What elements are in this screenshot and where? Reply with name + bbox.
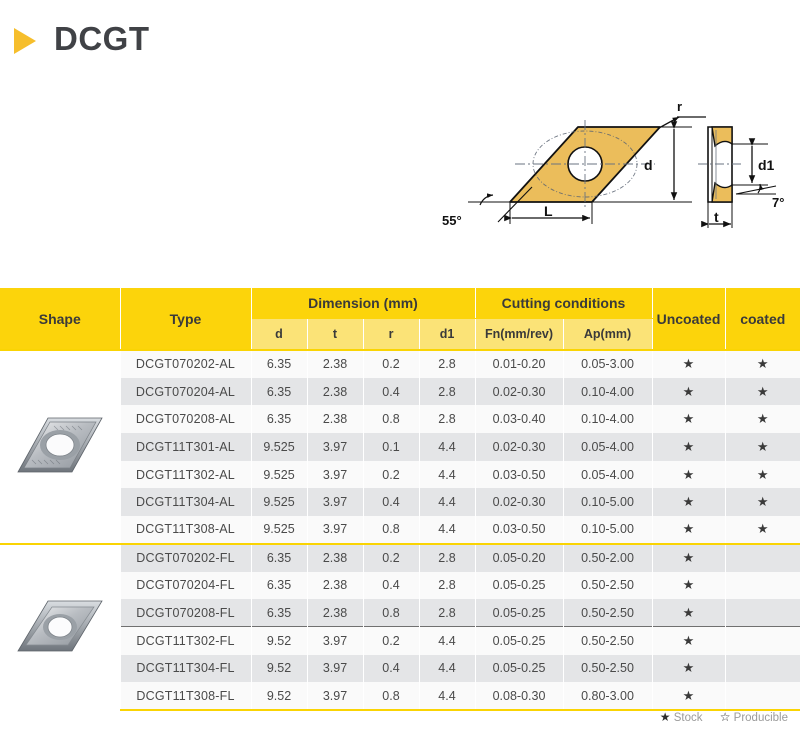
- cell-t: 2.38: [307, 544, 363, 572]
- cell-fn: 0.05-0.25: [475, 655, 563, 683]
- cell-t: 2.38: [307, 599, 363, 627]
- table-body: DCGT070202-AL6.352.380.22.80.01-0.200.05…: [0, 350, 800, 710]
- cell-uncoated: ★: [652, 544, 725, 572]
- cell-r: 0.8: [363, 405, 419, 433]
- cell-ap: 0.05-4.00: [563, 461, 652, 489]
- cell-t: 3.97: [307, 655, 363, 683]
- cell-d: 9.52: [251, 655, 307, 683]
- col-header-shape: Shape: [0, 288, 120, 350]
- cell-d1: 4.4: [419, 488, 475, 516]
- diagram-label-t: t: [714, 209, 719, 225]
- cell-ap: 0.10-5.00: [563, 516, 652, 544]
- diagram-label-relief-angle: 7°: [772, 195, 784, 210]
- col-header-uncoated: Uncoated: [652, 288, 725, 350]
- cell-r: 0.4: [363, 572, 419, 600]
- cell-d1: 4.4: [419, 461, 475, 489]
- diagram-label-L: L: [544, 203, 553, 219]
- cell-r: 0.4: [363, 488, 419, 516]
- table-row: DCGT11T301-AL9.5253.970.14.40.02-0.300.0…: [0, 433, 800, 461]
- diagram-front-view: r d L 55°: [442, 99, 706, 228]
- page-title: DCGT: [54, 20, 150, 58]
- cell-d: 9.52: [251, 682, 307, 710]
- col-header-coated: coated: [725, 288, 800, 350]
- cell-type: DCGT11T304-AL: [120, 488, 251, 516]
- cell-coated: ★: [725, 433, 800, 461]
- table-row: DCGT070202-AL6.352.380.22.80.01-0.200.05…: [0, 350, 800, 378]
- table-row: DCGT11T308-FL9.523.970.84.40.08-0.300.80…: [0, 682, 800, 710]
- cell-type: DCGT070202-AL: [120, 350, 251, 378]
- cell-fn: 0.03-0.50: [475, 516, 563, 544]
- cell-coated: ★: [725, 350, 800, 378]
- legend-stock-label: Stock: [674, 712, 703, 724]
- play-triangle-icon: [14, 28, 36, 54]
- cell-coated: ★: [725, 516, 800, 544]
- insert-chipbreaker-al: [0, 410, 120, 483]
- cell-d1: 2.8: [419, 544, 475, 572]
- legend-producible-label: Producible: [734, 712, 788, 724]
- cell-r: 0.4: [363, 655, 419, 683]
- cell-uncoated: ★: [652, 488, 725, 516]
- cell-d1: 2.8: [419, 572, 475, 600]
- cell-t: 2.38: [307, 405, 363, 433]
- diagram-label-d1: d1: [758, 157, 775, 173]
- cell-type: DCGT070202-FL: [120, 544, 251, 572]
- cell-coated: [725, 682, 800, 710]
- cell-type: DCGT11T302-FL: [120, 627, 251, 655]
- cell-uncoated: ★: [652, 627, 725, 655]
- cell-coated: [725, 599, 800, 627]
- star-outline-icon: ☆: [720, 710, 731, 724]
- cell-d: 9.525: [251, 433, 307, 461]
- insert-dimension-diagram: r d L 55°: [440, 82, 800, 232]
- cell-r: 0.2: [363, 350, 419, 378]
- cell-type: DCGT070208-FL: [120, 599, 251, 627]
- diagram-label-r: r: [677, 99, 682, 114]
- table-row: DCGT070208-AL6.352.380.82.80.03-0.400.10…: [0, 405, 800, 433]
- table-row: DCGT11T302-FL9.523.970.24.40.05-0.250.50…: [0, 627, 800, 655]
- table-row: DCGT11T308-AL9.5253.970.84.40.03-0.500.1…: [0, 516, 800, 544]
- cell-fn: 0.03-0.50: [475, 461, 563, 489]
- col-header-d1: d1: [419, 319, 475, 351]
- cell-d: 6.35: [251, 378, 307, 406]
- cell-ap: 0.10-4.00: [563, 378, 652, 406]
- cell-fn: 0.02-0.30: [475, 433, 563, 461]
- cell-t: 2.38: [307, 350, 363, 378]
- col-header-r: r: [363, 319, 419, 351]
- cell-uncoated: ★: [652, 433, 725, 461]
- shape-cell-insert-plain-fl: [0, 544, 120, 710]
- cell-d: 6.35: [251, 350, 307, 378]
- table-row: DCGT070204-FL6.352.380.42.80.05-0.250.50…: [0, 572, 800, 600]
- cell-ap: 0.50-2.50: [563, 655, 652, 683]
- cell-uncoated: ★: [652, 461, 725, 489]
- cell-d1: 4.4: [419, 682, 475, 710]
- cell-d: 6.35: [251, 544, 307, 572]
- cell-type: DCGT070204-FL: [120, 572, 251, 600]
- cell-d1: 2.8: [419, 599, 475, 627]
- cell-coated: ★: [725, 405, 800, 433]
- cell-ap: 0.10-4.00: [563, 405, 652, 433]
- insert-plain-fl: [0, 591, 120, 664]
- cell-r: 0.8: [363, 516, 419, 544]
- diagram-label-d: d: [644, 157, 653, 173]
- cell-t: 3.97: [307, 488, 363, 516]
- cell-r: 0.2: [363, 544, 419, 572]
- cell-fn: 0.05-0.20: [475, 544, 563, 572]
- cell-fn: 0.05-0.25: [475, 572, 563, 600]
- cell-d1: 4.4: [419, 655, 475, 683]
- cell-uncoated: ★: [652, 378, 725, 406]
- cell-r: 0.1: [363, 433, 419, 461]
- legend-stock: ★ Stock: [660, 710, 703, 724]
- cell-fn: 0.05-0.25: [475, 627, 563, 655]
- cell-coated: [725, 572, 800, 600]
- cell-d1: 2.8: [419, 378, 475, 406]
- col-header-t: t: [307, 319, 363, 351]
- col-header-ap: Ap(mm): [563, 319, 652, 351]
- diagram-side-view: d1 7° t: [698, 127, 784, 228]
- cell-uncoated: ★: [652, 350, 725, 378]
- cell-coated: ★: [725, 378, 800, 406]
- cell-r: 0.8: [363, 682, 419, 710]
- cell-d: 6.35: [251, 572, 307, 600]
- cell-uncoated: ★: [652, 405, 725, 433]
- cell-d: 6.35: [251, 405, 307, 433]
- cell-d1: 4.4: [419, 627, 475, 655]
- cell-uncoated: ★: [652, 655, 725, 683]
- cell-r: 0.2: [363, 627, 419, 655]
- cell-t: 3.97: [307, 627, 363, 655]
- cell-d1: 2.8: [419, 350, 475, 378]
- cell-t: 2.38: [307, 378, 363, 406]
- cell-type: DCGT070204-AL: [120, 378, 251, 406]
- cell-t: 3.97: [307, 682, 363, 710]
- shape-cell-insert-chipbreaker-al: [0, 350, 120, 544]
- legend-producible: ☆ Producible: [720, 710, 788, 724]
- table-header: Shape Type Dimension (mm) Cutting condit…: [0, 288, 800, 350]
- cell-uncoated: ★: [652, 516, 725, 544]
- cell-ap: 0.05-3.00: [563, 350, 652, 378]
- cell-uncoated: ★: [652, 682, 725, 710]
- cell-r: 0.2: [363, 461, 419, 489]
- cell-t: 2.38: [307, 572, 363, 600]
- cell-d: 9.52: [251, 627, 307, 655]
- star-filled-icon: ★: [660, 710, 671, 724]
- cell-r: 0.8: [363, 599, 419, 627]
- cell-coated: [725, 544, 800, 572]
- cell-coated: ★: [725, 488, 800, 516]
- cell-ap: 0.50-2.00: [563, 544, 652, 572]
- dcgt-specification-table: Shape Type Dimension (mm) Cutting condit…: [0, 288, 800, 711]
- col-header-type: Type: [120, 288, 251, 350]
- table-row: DCGT070204-AL6.352.380.42.80.02-0.300.10…: [0, 378, 800, 406]
- cell-fn: 0.08-0.30: [475, 682, 563, 710]
- col-header-d: d: [251, 319, 307, 351]
- cell-r: 0.4: [363, 378, 419, 406]
- cell-uncoated: ★: [652, 572, 725, 600]
- cell-d: 9.525: [251, 516, 307, 544]
- col-header-fn: Fn(mm/rev): [475, 319, 563, 351]
- cell-d1: 4.4: [419, 516, 475, 544]
- cell-t: 3.97: [307, 461, 363, 489]
- cell-ap: 0.10-5.00: [563, 488, 652, 516]
- cell-d1: 2.8: [419, 405, 475, 433]
- col-header-cutting-group: Cutting conditions: [475, 288, 652, 319]
- cell-ap: 0.50-2.50: [563, 572, 652, 600]
- cell-fn: 0.02-0.30: [475, 488, 563, 516]
- cell-coated: [725, 627, 800, 655]
- spec-table-container: Shape Type Dimension (mm) Cutting condit…: [0, 288, 800, 711]
- cell-t: 3.97: [307, 433, 363, 461]
- cell-type: DCGT070208-AL: [120, 405, 251, 433]
- cell-type: DCGT11T308-FL: [120, 682, 251, 710]
- cell-coated: ★: [725, 461, 800, 489]
- cell-d: 9.525: [251, 488, 307, 516]
- cell-ap: 0.50-2.50: [563, 599, 652, 627]
- table-row: DCGT070202-FL6.352.380.22.80.05-0.200.50…: [0, 544, 800, 572]
- cell-d1: 4.4: [419, 433, 475, 461]
- table-row: DCGT070208-FL6.352.380.82.80.05-0.250.50…: [0, 599, 800, 627]
- cell-fn: 0.03-0.40: [475, 405, 563, 433]
- cell-fn: 0.05-0.25: [475, 599, 563, 627]
- table-row: DCGT11T304-AL9.5253.970.44.40.02-0.300.1…: [0, 488, 800, 516]
- cell-ap: 0.80-3.00: [563, 682, 652, 710]
- cell-type: DCGT11T301-AL: [120, 433, 251, 461]
- table-row: DCGT11T304-FL9.523.970.44.40.05-0.250.50…: [0, 655, 800, 683]
- cell-ap: 0.05-4.00: [563, 433, 652, 461]
- cell-d: 9.525: [251, 461, 307, 489]
- cell-d: 6.35: [251, 599, 307, 627]
- col-header-dimension-group: Dimension (mm): [251, 288, 475, 319]
- diagram-label-corner-angle: 55°: [442, 213, 462, 228]
- cell-type: DCGT11T308-AL: [120, 516, 251, 544]
- cell-fn: 0.02-0.30: [475, 378, 563, 406]
- legend: ★ Stock ☆ Producible: [646, 710, 788, 724]
- cell-ap: 0.50-2.50: [563, 627, 652, 655]
- table-row: DCGT11T302-AL9.5253.970.24.40.03-0.500.0…: [0, 461, 800, 489]
- cell-type: DCGT11T304-FL: [120, 655, 251, 683]
- cell-uncoated: ★: [652, 599, 725, 627]
- cell-type: DCGT11T302-AL: [120, 461, 251, 489]
- page-header: DCGT: [0, 0, 800, 78]
- cell-t: 3.97: [307, 516, 363, 544]
- cell-coated: [725, 655, 800, 683]
- cell-fn: 0.01-0.20: [475, 350, 563, 378]
